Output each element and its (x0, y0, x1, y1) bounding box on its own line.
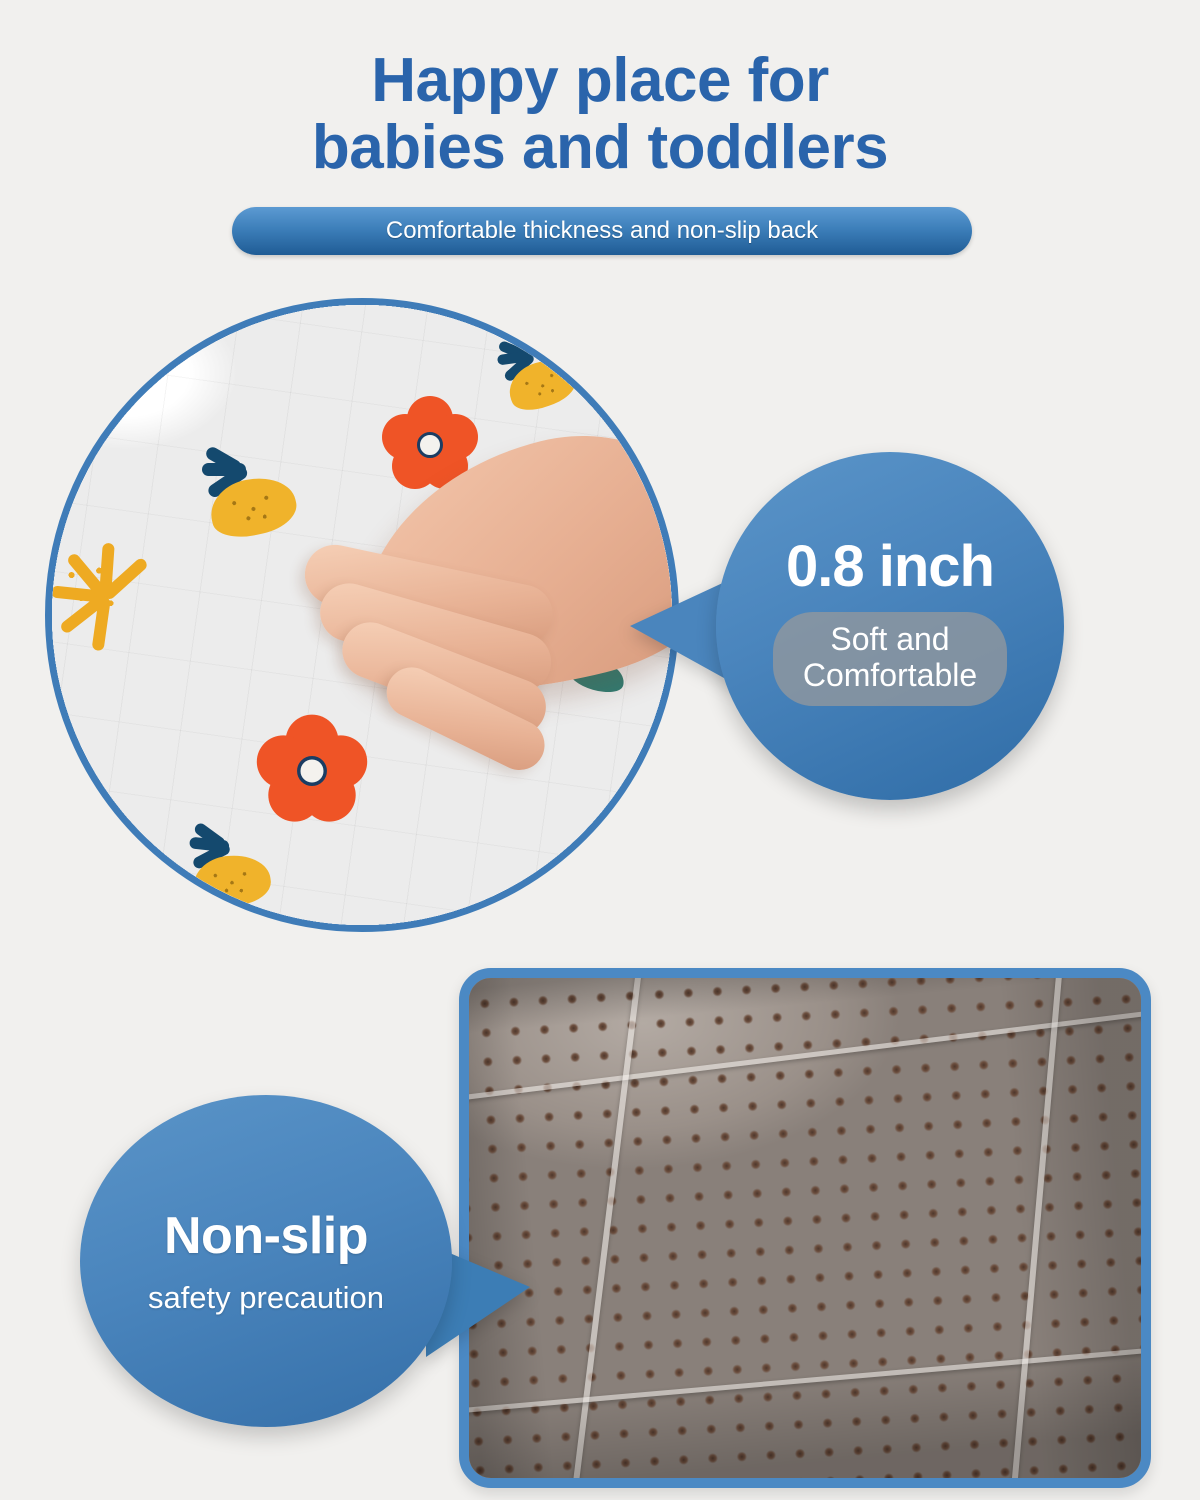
nonslip-bubble: Non-slip safety precaution (80, 1095, 452, 1427)
nonslip-backing-photo (459, 968, 1151, 1488)
topper-surface-photo (45, 298, 679, 932)
subtitle-text: Comfortable thickness and non-slip back (386, 217, 818, 245)
product-feature-page: Happy place for babies and toddlers Comf… (0, 0, 1200, 1500)
headline-line-2: babies and toddlers (0, 115, 1200, 182)
subtitle-banner: Comfortable thickness and non-slip back (232, 207, 972, 255)
nonslip-title: Non-slip (164, 1210, 368, 1262)
headline-line-1: Happy place for (0, 48, 1200, 115)
thickness-value: 0.8 inch (786, 538, 994, 596)
nonslip-subtitle: safety precaution (148, 1282, 384, 1313)
soft-pill-line-1: Soft and (803, 622, 977, 658)
thickness-bubble: 0.8 inch Soft and Comfortable (716, 452, 1064, 800)
page-headline: Happy place for babies and toddlers (0, 48, 1200, 182)
soft-pill-line-2: Comfortable (803, 658, 977, 694)
hand-pressing-topper (260, 445, 679, 885)
thickness-callout-badge: 0.8 inch Soft and Comfortable (716, 452, 1064, 800)
soft-comfortable-pill: Soft and Comfortable (773, 612, 1007, 707)
nonslip-callout-badge: Non-slip safety precaution (80, 1095, 452, 1427)
yellow-sun-motif (45, 527, 174, 667)
fabric-depth-shading (469, 978, 1141, 1478)
yellow-carrot-motif (486, 321, 594, 429)
